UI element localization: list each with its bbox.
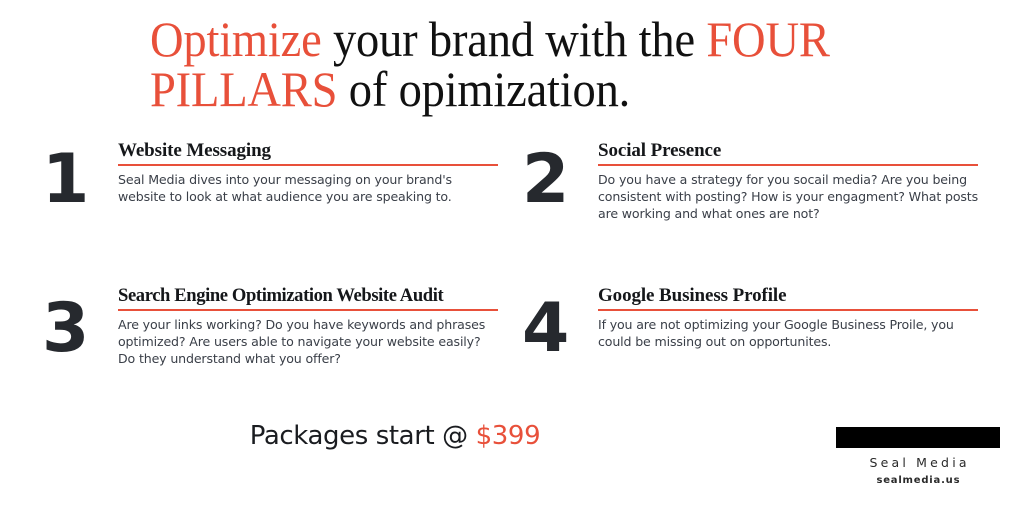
pillar-number-3: 3: [42, 293, 110, 365]
pricing-amount: $399: [476, 421, 541, 451]
pillar-text-2: Do you have a strategy for you socail me…: [598, 171, 980, 223]
pillar-heading-2: Social Presence: [598, 140, 980, 162]
logo-block: Seal Media sealmedia.us: [836, 427, 1000, 487]
pillar-number-1: 1: [42, 144, 110, 216]
pillar-body-4: Google Business Profile If you are not o…: [598, 285, 980, 350]
pillar-rule-2: [598, 164, 978, 166]
pillar-text-4: If you are not optimizing your Google Bu…: [598, 316, 980, 351]
pillar-heading-3: Search Engine Optimization Website Audit: [118, 285, 500, 307]
pricing-line: Packages start @ $399: [0, 420, 790, 452]
pillar-item-3: 3 Search Engine Optimization Website Aud…: [42, 285, 472, 420]
pillar-number-2: 2: [522, 144, 590, 216]
pillar-number-4: 4: [522, 293, 590, 365]
page-title-mid: your brand with the: [322, 11, 707, 67]
page-title-end: of opimization.: [337, 61, 630, 117]
pillar-text-3: Are your links working? Do you have keyw…: [118, 316, 500, 368]
pillar-text-1: Seal Media dives into your messaging on …: [118, 171, 500, 206]
pillars-grid: 1 Website Messaging Seal Media dives int…: [0, 140, 1024, 410]
page-title-accent-optimize: Optimize: [150, 11, 322, 67]
logo-website-url: sealmedia.us: [836, 475, 1000, 487]
pillar-body-2: Social Presence Do you have a strategy f…: [598, 140, 980, 223]
page-title: Optimize your brand with the FOUR PILLAR…: [150, 14, 894, 114]
pillar-heading-4: Google Business Profile: [598, 285, 980, 307]
logo-company-name: Seal Media: [836, 455, 1000, 470]
pillar-rule-4: [598, 309, 978, 311]
pillar-item-1: 1 Website Messaging Seal Media dives int…: [42, 140, 472, 275]
logo-mark-icon: [836, 427, 1000, 448]
pricing-prefix: Packages start @: [250, 421, 476, 451]
pillar-heading-1: Website Messaging: [118, 140, 500, 162]
pillar-rule-1: [118, 164, 498, 166]
pillar-item-4: 4 Google Business Profile If you are not…: [522, 285, 952, 420]
infographic-page: { "colors": { "accent": "#E8503A", "head…: [0, 0, 1024, 512]
pillar-body-3: Search Engine Optimization Website Audit…: [118, 285, 500, 368]
pillar-item-2: 2 Social Presence Do you have a strategy…: [522, 140, 952, 275]
pillar-body-1: Website Messaging Seal Media dives into …: [118, 140, 500, 205]
pillar-rule-3: [118, 309, 498, 311]
